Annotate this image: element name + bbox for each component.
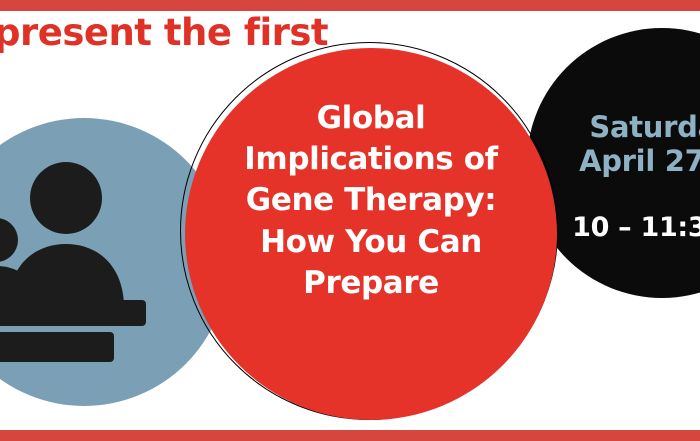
event-title-line-5: Prepare: [185, 263, 557, 304]
event-title-line-3: Gene Therapy:: [185, 180, 557, 221]
event-title-line-1: Global: [185, 98, 557, 139]
speaker-at-podium-icon: [0, 140, 188, 380]
top-accent-bar: [0, 0, 700, 11]
event-title: Global Implications of Gene Therapy: How…: [185, 98, 557, 304]
bottom-accent-bar: [0, 430, 700, 441]
event-banner: present the first Saturday April 27, 2 1…: [0, 0, 700, 441]
kicker-text: present the first: [0, 14, 324, 51]
event-title-line-2: Implications of: [185, 139, 557, 180]
event-title-line-4: How You Can: [185, 222, 557, 263]
